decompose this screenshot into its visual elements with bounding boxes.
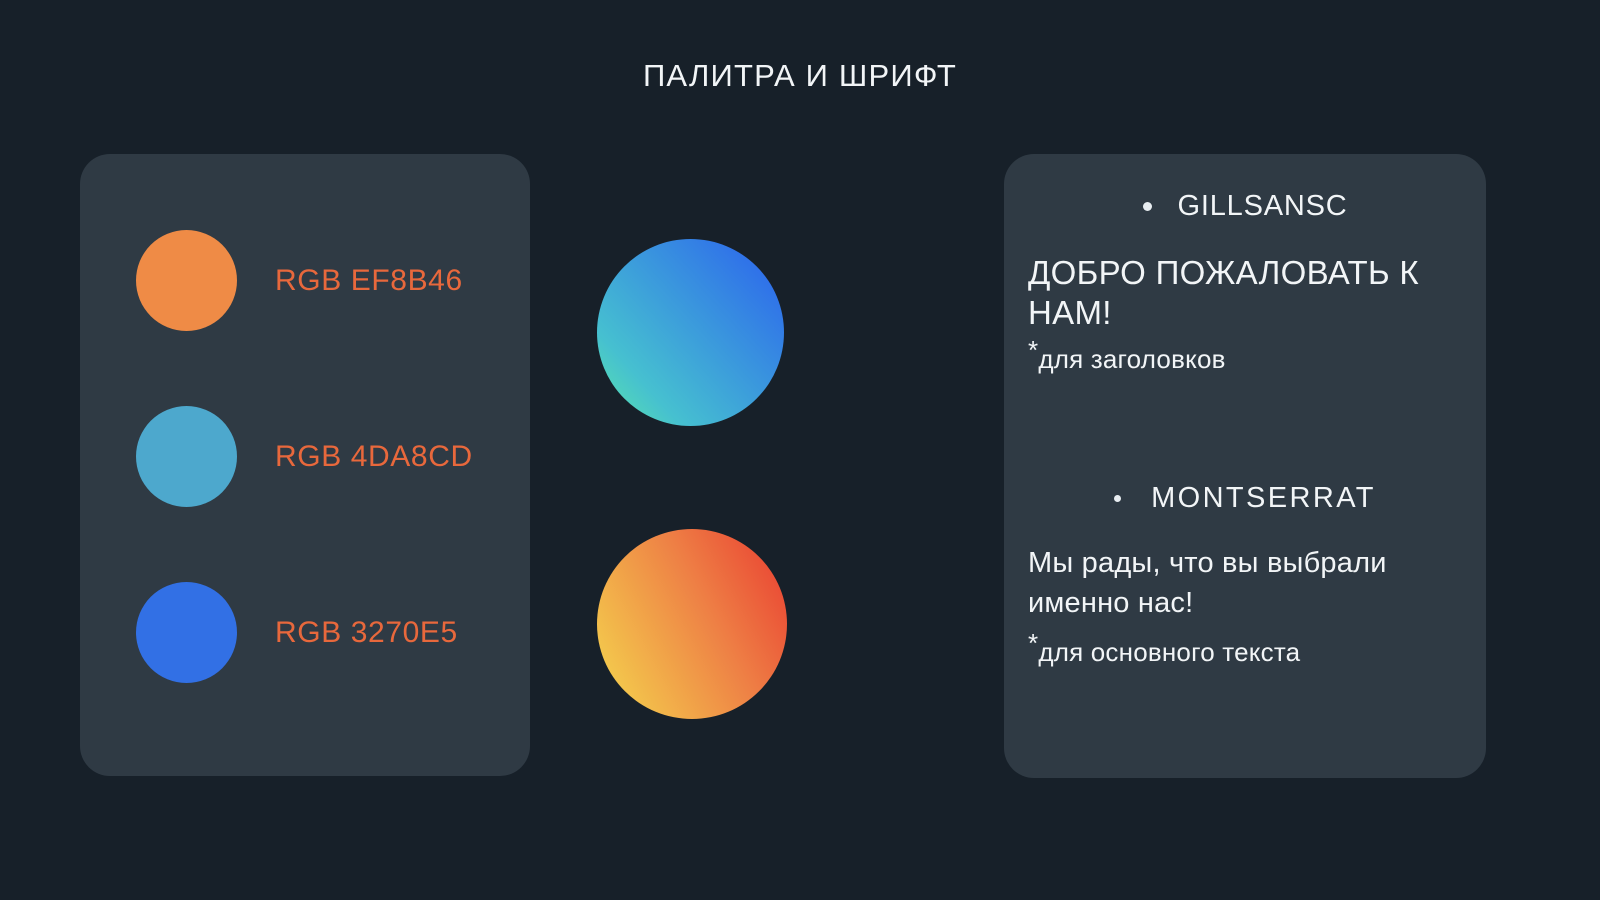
color-swatch-blue bbox=[136, 582, 237, 683]
palette-swatch-row: RGB 4DA8CD bbox=[136, 406, 473, 507]
font-note-body: *для основного текста bbox=[1028, 637, 1462, 668]
font-block-headline: GILLSANSC ДОБРО ПОЖАЛОВАТЬ К НАМ! *для з… bbox=[1028, 190, 1462, 375]
font-name-row: MONTSERRAT bbox=[1028, 482, 1462, 515]
font-note-headline-text: для заголовков bbox=[1038, 344, 1225, 374]
font-note-body-text: для основного текста bbox=[1038, 637, 1300, 667]
bullet-dot-icon bbox=[1114, 495, 1121, 502]
color-swatch-label: RGB 3270E5 bbox=[275, 616, 458, 650]
color-swatch-label: RGB 4DA8CD bbox=[275, 440, 473, 474]
typography-card-inner: GILLSANSC ДОБРО ПОЖАЛОВАТЬ К НАМ! *для з… bbox=[1028, 154, 1462, 778]
font-sample-headline: ДОБРО ПОЖАЛОВАТЬ К НАМ! bbox=[1028, 253, 1462, 332]
font-block-body: MONTSERRAT Мы рады, что вы выбрали именн… bbox=[1028, 482, 1462, 668]
palette-swatch-row: RGB EF8B46 bbox=[136, 230, 463, 331]
palette-card: RGB EF8B46 RGB 4DA8CD RGB 3270E5 bbox=[80, 154, 530, 776]
gradient-circle-cool bbox=[597, 239, 784, 426]
font-name-body: MONTSERRAT bbox=[1151, 482, 1376, 515]
color-swatch-light-blue bbox=[136, 406, 237, 507]
color-swatch-label: RGB EF8B46 bbox=[275, 264, 463, 298]
color-swatch-orange bbox=[136, 230, 237, 331]
gradient-circle-warm bbox=[597, 529, 787, 719]
bullet-dot-icon bbox=[1143, 202, 1152, 211]
font-note-headline: *для заголовков bbox=[1028, 344, 1462, 375]
font-sample-body: Мы рады, что вы выбрали именно нас! bbox=[1028, 543, 1462, 623]
typography-card: GILLSANSC ДОБРО ПОЖАЛОВАТЬ К НАМ! *для з… bbox=[1004, 154, 1486, 778]
slide-canvas: ПАЛИТРА И ШРИФТ RGB EF8B46 RGB 4DA8CD RG… bbox=[0, 0, 1600, 900]
font-name-headline: GILLSANSC bbox=[1178, 190, 1348, 223]
font-name-row: GILLSANSC bbox=[1028, 190, 1462, 223]
palette-swatch-row: RGB 3270E5 bbox=[136, 582, 458, 683]
asterisk-icon: * bbox=[1028, 335, 1038, 365]
asterisk-icon: * bbox=[1028, 628, 1038, 658]
page-title: ПАЛИТРА И ШРИФТ bbox=[0, 58, 1600, 94]
